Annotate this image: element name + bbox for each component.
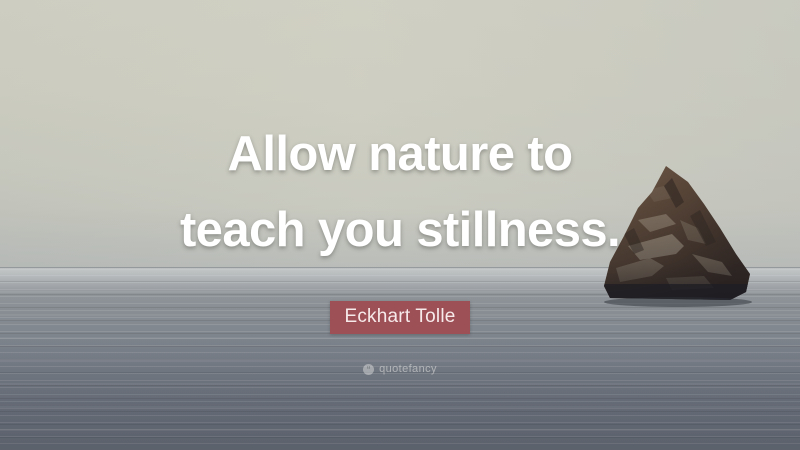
watermark-brand-text: quotefancy (379, 364, 437, 375)
quotefancy-logo-icon: “ (363, 364, 374, 375)
quote-text-block: Allow nature to teach you stillness. (0, 116, 800, 268)
quote-line-2: teach you stillness. (60, 192, 740, 268)
sea-vignette (0, 330, 800, 450)
author-attribution: Eckhart Tolle (0, 301, 800, 334)
quote-line-1: Allow nature to (60, 116, 740, 192)
quote-card: Allow nature to teach you stillness. Eck… (0, 0, 800, 450)
watermark: “ quotefancy (0, 364, 800, 375)
author-name-badge: Eckhart Tolle (330, 301, 469, 334)
